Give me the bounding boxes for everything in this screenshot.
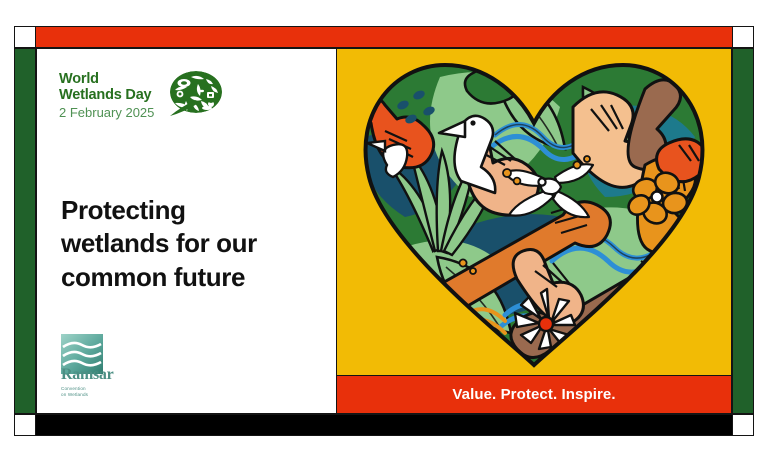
poster: World Wetlands Day 2 February 2025 bbox=[14, 26, 754, 436]
headline-line-2: wetlands for our bbox=[61, 227, 323, 260]
wetlands-heart-illustration bbox=[345, 49, 723, 375]
frame-top-red-bar bbox=[14, 26, 754, 48]
artwork-panel: Value. Protect. Inspire. bbox=[337, 49, 731, 413]
corner-square-top-left bbox=[14, 26, 36, 48]
ramsar-wordmark: Ramsar bbox=[61, 367, 123, 383]
tagline-banner: Value. Protect. Inspire. bbox=[337, 375, 731, 413]
world-wetlands-day-emblem-icon bbox=[162, 70, 224, 125]
wwd-text-block: World Wetlands Day 2 February 2025 bbox=[59, 69, 154, 122]
artwork-stage bbox=[337, 49, 731, 375]
frame-bottom-black-bar bbox=[14, 414, 754, 436]
left-text-panel: World Wetlands Day 2 February 2025 bbox=[37, 49, 337, 413]
ramsar-subtitle-line-1: Convention bbox=[61, 386, 123, 393]
wwd-title-line-2: Wetlands Day bbox=[59, 87, 154, 103]
headline-line-1: Protecting bbox=[61, 194, 323, 227]
ramsar-convention-logo: Ramsar Convention on Wetlands bbox=[61, 334, 123, 399]
corner-square-top-right bbox=[732, 26, 754, 48]
ramsar-subtitle-line-2: on Wetlands bbox=[61, 392, 123, 399]
wwd-title-line-1: World bbox=[59, 71, 154, 87]
frame-left-green-bar bbox=[14, 48, 36, 414]
headline-line-3: common future bbox=[61, 261, 323, 294]
page-headline: Protecting wetlands for our common futur… bbox=[61, 194, 323, 294]
wwd-date: 2 February 2025 bbox=[59, 105, 154, 122]
ramsar-subtitle: Convention on Wetlands bbox=[61, 386, 123, 399]
tagline-text: Value. Protect. Inspire. bbox=[452, 386, 615, 403]
frame-right-green-bar bbox=[732, 48, 754, 414]
corner-square-bottom-right bbox=[732, 414, 754, 436]
poster-content: World Wetlands Day 2 February 2025 bbox=[36, 48, 732, 414]
world-wetlands-day-lockup: World Wetlands Day 2 February 2025 bbox=[59, 69, 224, 125]
corner-square-bottom-left bbox=[14, 414, 36, 436]
